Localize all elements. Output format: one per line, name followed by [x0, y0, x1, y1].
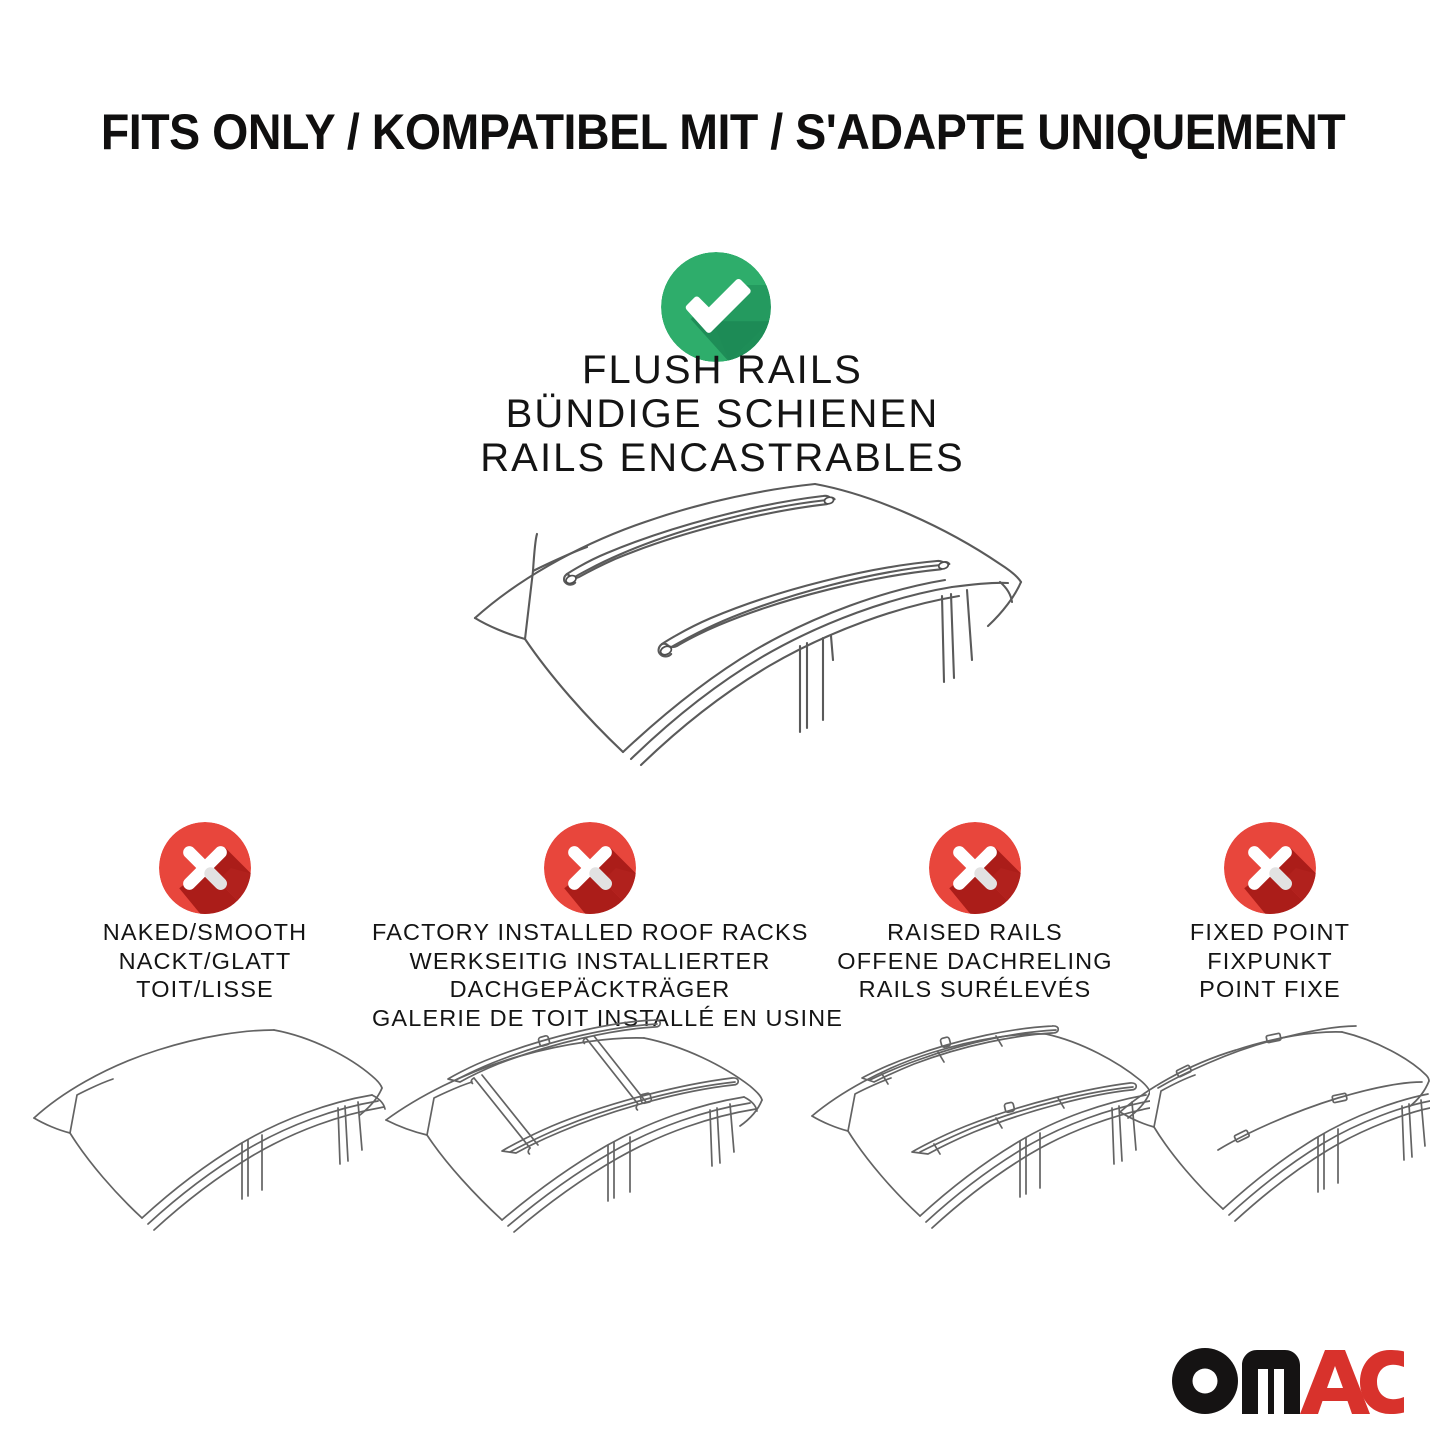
compatible-label-en: FLUSH RAILS — [0, 348, 1445, 392]
incompatible-label-group: RAISED RAILS OFFENE DACHRELING RAILS SUR… — [800, 918, 1150, 1004]
incompatible-label-de-2: DACHGEPÄCKTRÄGER — [372, 975, 808, 1004]
car-roof-factory-roof-racks-sketch — [372, 1008, 808, 1240]
incompatible-label-en: FACTORY INSTALLED ROOF RACKS — [372, 918, 808, 947]
page-title-text: FITS ONLY / KOMPATIBEL MIT / S'ADAPTE UN… — [100, 104, 1344, 160]
green-check-circle-icon — [661, 252, 771, 362]
car-roof-fixed-point-sketch — [1110, 1012, 1430, 1234]
incompatible-label-de: NACKT/GLATT — [20, 947, 390, 976]
incompatible-label-en: NAKED/SMOOTH — [20, 918, 390, 947]
compatible-label-de: BÜNDIGE SCHIENEN — [0, 392, 1445, 436]
incompatible-label-de-1: WERKSEITIG INSTALLIERTER — [372, 947, 808, 976]
incompatible-label-fr: RAILS SURÉLEVÉS — [800, 975, 1150, 1004]
omac-logo — [1172, 1343, 1404, 1419]
incompatible-label-group: NAKED/SMOOTH NACKT/GLATT TOIT/LISSE — [20, 918, 390, 1004]
incompatible-label-group: FIXED POINT FIXPUNKT POINT FIXE — [1150, 918, 1390, 1004]
compatibility-infographic: FITS ONLY / KOMPATIBEL MIT / S'ADAPTE UN… — [0, 0, 1445, 1445]
incompatible-label-fr: TOIT/LISSE — [20, 975, 390, 1004]
incompatible-label-de: FIXPUNKT — [1150, 947, 1390, 976]
car-roof-with-flush-rails-sketch — [455, 470, 1035, 770]
incompatible-label-fr: POINT FIXE — [1150, 975, 1390, 1004]
red-cross-circle-icon — [544, 822, 636, 914]
compatible-label-group: FLUSH RAILS BÜNDIGE SCHIENEN RAILS ENCAS… — [0, 348, 1445, 480]
page-title: FITS ONLY / KOMPATIBEL MIT / S'ADAPTE UN… — [0, 104, 1445, 160]
incompatible-columns: NAKED/SMOOTH NACKT/GLATT TOIT/LISSE — [0, 822, 1445, 1242]
incompatible-label-en: FIXED POINT — [1150, 918, 1390, 947]
red-cross-circle-icon — [1224, 822, 1316, 914]
car-roof-raised-rails-sketch — [800, 1012, 1150, 1234]
incompatible-label-de: OFFENE DACHRELING — [800, 947, 1150, 976]
red-cross-circle-icon — [929, 822, 1021, 914]
red-cross-circle-icon — [159, 822, 251, 914]
car-roof-naked-smooth-sketch — [20, 1012, 390, 1234]
incompatible-label-en: RAISED RAILS — [800, 918, 1150, 947]
